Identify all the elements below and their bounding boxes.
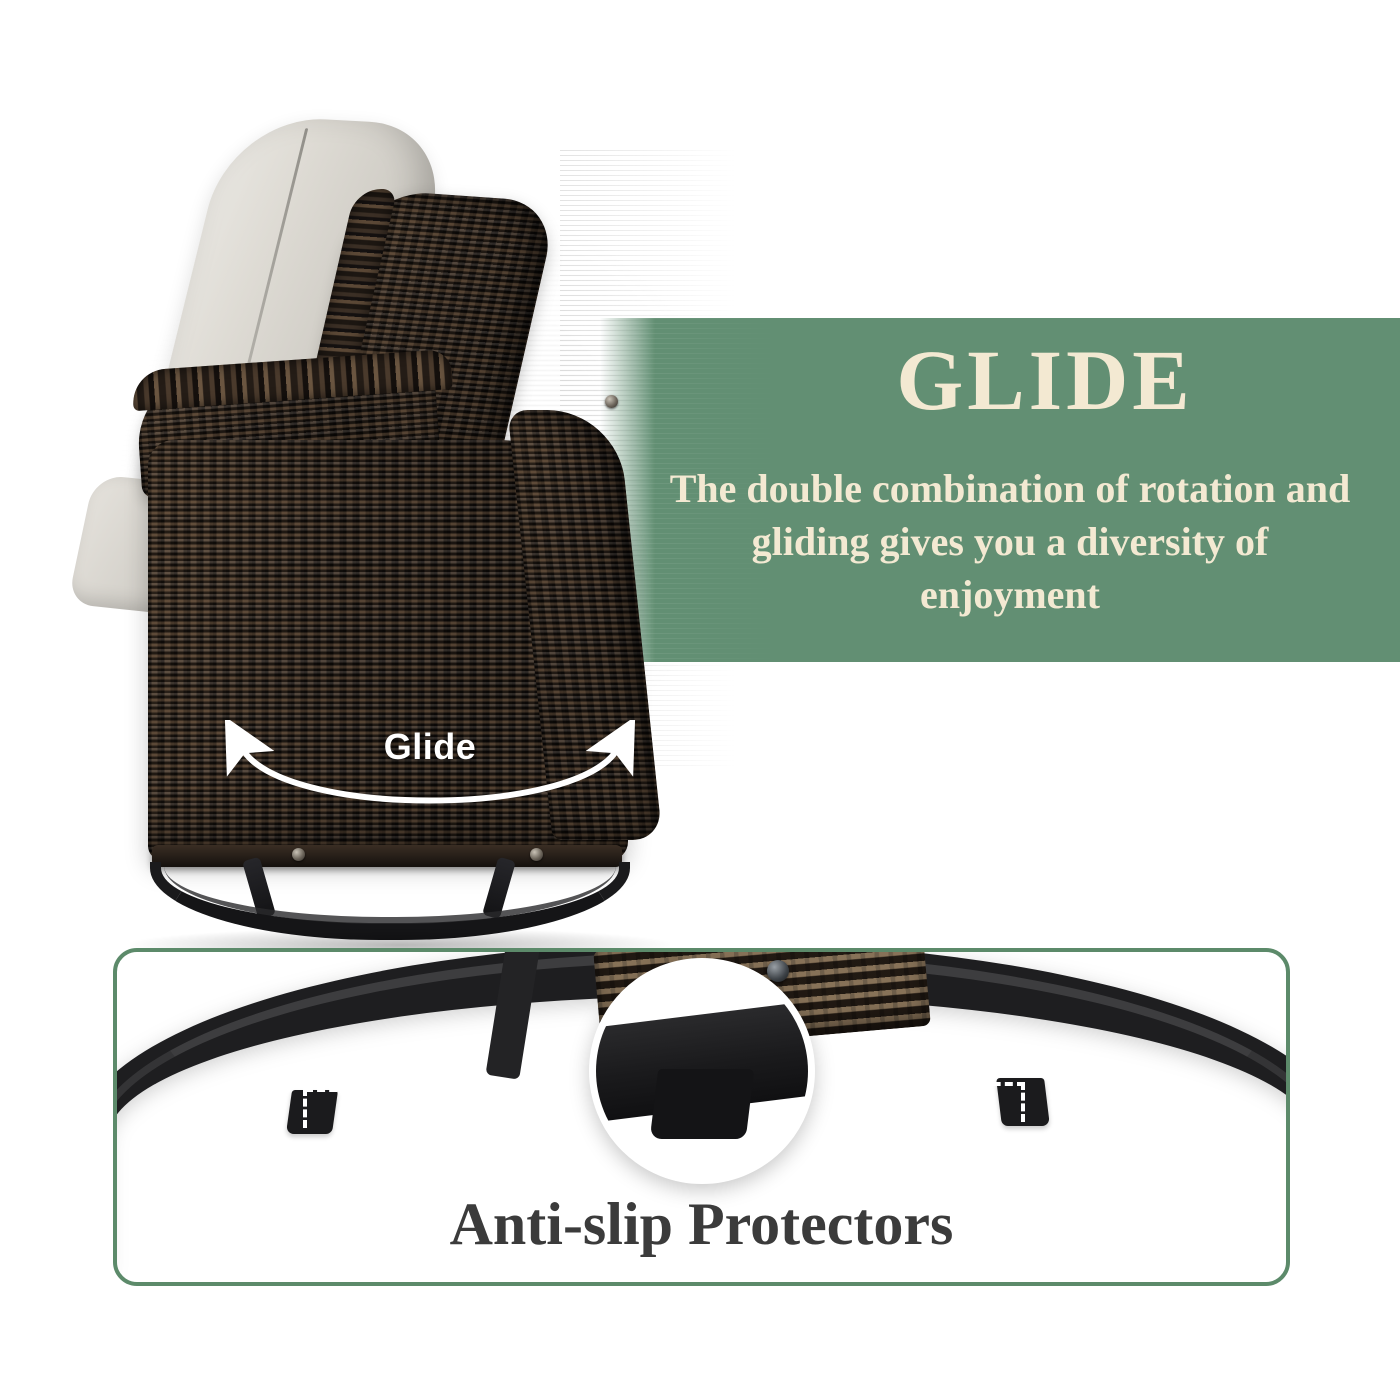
hardware-bolt-icon bbox=[530, 848, 543, 861]
product-feature-graphic: GLIDE The double combination of rotation… bbox=[0, 0, 1400, 1400]
hardware-bolt-icon bbox=[767, 960, 789, 982]
top-feature-section: GLIDE The double combination of rotation… bbox=[0, 0, 1400, 900]
zoom-callout-circle bbox=[589, 958, 815, 1184]
glider-chair-image: Glide bbox=[60, 110, 720, 850]
anti-slip-foot bbox=[286, 1090, 338, 1134]
magnified-anti-slip-foot bbox=[650, 1069, 755, 1139]
glide-motion-arrow: Glide bbox=[210, 720, 650, 840]
dashed-guide-line bbox=[305, 1088, 615, 1092]
glide-description: The double combination of rotation and g… bbox=[660, 462, 1360, 621]
anti-slip-caption: Anti-slip Protectors bbox=[113, 1190, 1290, 1259]
dashed-guide-line bbox=[1021, 1082, 1025, 1122]
page-title: GLIDE bbox=[700, 332, 1390, 428]
dashed-guide-line bbox=[303, 1088, 307, 1128]
hardware-bolt-icon bbox=[605, 395, 618, 408]
glide-arrow-label: Glide bbox=[210, 726, 650, 768]
hardware-bolt-icon bbox=[292, 848, 305, 861]
base-rail-detail-image bbox=[113, 948, 1290, 1192]
